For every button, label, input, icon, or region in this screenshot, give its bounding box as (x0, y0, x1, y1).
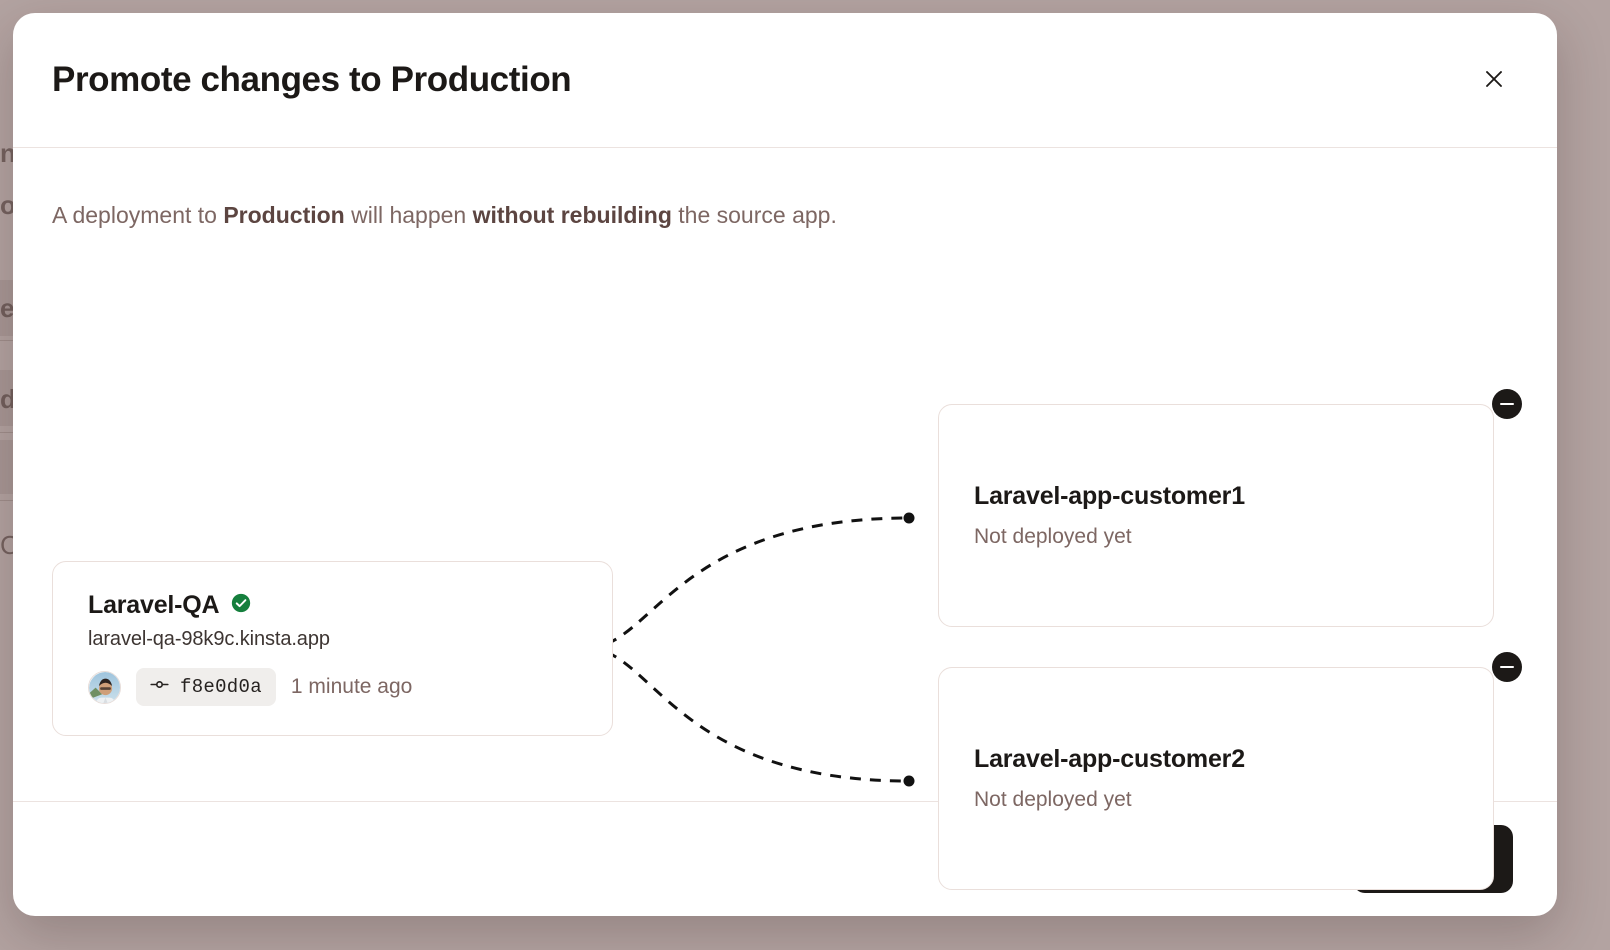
target-app-status: Not deployed yet (974, 525, 1493, 549)
close-icon (1482, 67, 1506, 94)
remove-target-button[interactable] (1492, 389, 1522, 419)
target-app-name: Laravel-app-customer2 (974, 745, 1493, 774)
close-button[interactable] (1471, 57, 1517, 103)
promote-changes-modal: Promote changes to Production A deployme… (13, 13, 1557, 916)
target-app-card[interactable]: Laravel-app-customer1 Not deployed yet (938, 404, 1494, 627)
source-app-card[interactable]: Laravel-QA laravel-qa-98k9c.kinsta.app (52, 561, 613, 736)
target-app-name: Laravel-app-customer1 (974, 482, 1493, 511)
source-app-name: Laravel-QA (88, 591, 219, 620)
source-app-meta: f8e0d0a 1 minute ago (88, 668, 612, 706)
target-app-status: Not deployed yet (974, 788, 1493, 812)
check-circle-icon (230, 592, 252, 619)
commit-hash: f8e0d0a (180, 676, 262, 698)
modal-body: A deployment to Production will happen w… (13, 148, 1557, 801)
target-app-card[interactable]: Laravel-app-customer2 Not deployed yet (938, 667, 1494, 890)
deployment-graph: Laravel-QA laravel-qa-98k9c.kinsta.app (13, 148, 1557, 916)
git-commit-icon (150, 675, 169, 699)
source-app-name-row: Laravel-QA (88, 591, 612, 620)
source-app-url: laravel-qa-98k9c.kinsta.app (88, 628, 612, 651)
page-title: Promote changes to Production (52, 60, 1471, 100)
avatar (88, 671, 121, 704)
minus-circle-icon (1500, 403, 1514, 406)
commit-badge[interactable]: f8e0d0a (136, 668, 276, 706)
remove-target-button[interactable] (1492, 652, 1522, 682)
minus-circle-icon (1500, 666, 1514, 669)
modal-header: Promote changes to Production (13, 13, 1557, 148)
deploy-timestamp: 1 minute ago (291, 675, 412, 699)
